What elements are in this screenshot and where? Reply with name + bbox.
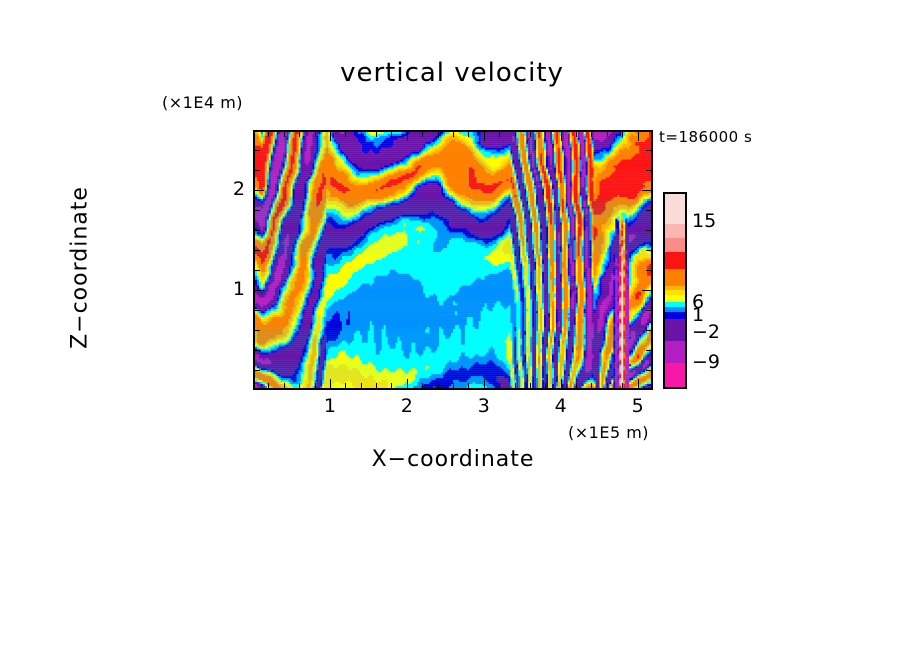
xaxis-tick-mark [591, 383, 592, 388]
xaxis-tick-mark [622, 383, 623, 388]
yaxis-tick-mark [255, 190, 264, 191]
colorbar-band [665, 269, 685, 286]
xaxis-tick-mark [499, 383, 500, 388]
xaxis-tick-mark [376, 383, 377, 388]
yaxis-tick-mark [646, 250, 651, 251]
xaxis-tick-mark [391, 383, 392, 388]
xaxis-tick-mark [422, 383, 423, 388]
colorbar-tick-label: −9 [692, 351, 720, 373]
yaxis-tick-mark [646, 270, 651, 271]
xaxis-tick-mark [407, 132, 408, 141]
yaxis-tick-mark [255, 290, 264, 291]
xaxis-tick-mark [268, 132, 269, 137]
yaxis-tick-mark [255, 230, 260, 231]
yaxis-tick-mark [642, 190, 651, 191]
xaxis-tick-mark [561, 379, 562, 388]
xaxis-tick-mark [638, 132, 639, 141]
xaxis-tick-mark [622, 132, 623, 137]
xaxis-tick-mark [484, 132, 485, 141]
colorbar-tick-label: −2 [692, 321, 720, 343]
time-annotation: t=186000 s [659, 128, 752, 146]
plot-area [253, 130, 653, 390]
yaxis-tick-mark [646, 350, 651, 351]
xaxis-tick-mark [422, 132, 423, 137]
xaxis-tick-mark [345, 383, 346, 388]
xaxis-tick-mark [515, 383, 516, 388]
xaxis-tick-mark [376, 132, 377, 137]
xaxis-tick-mark [438, 132, 439, 137]
yaxis-tick-mark [646, 310, 651, 311]
yaxis-tick-label: 2 [215, 178, 245, 200]
xaxis-tick-mark [530, 383, 531, 388]
xaxis-tick-mark [299, 132, 300, 137]
colorbar-band [665, 194, 685, 224]
contour-field [255, 132, 651, 388]
colorbar-band [665, 238, 685, 252]
colorbar-tick-label: 15 [692, 210, 716, 232]
colorbar-band [665, 319, 685, 341]
yaxis-tick-mark [255, 350, 260, 351]
xaxis-tick-mark [545, 383, 546, 388]
xaxis-tick-label: 4 [546, 395, 576, 417]
colorbar-band [665, 312, 685, 319]
xaxis-tick-mark [607, 132, 608, 137]
colorbar-band [665, 363, 685, 387]
colorbar-band [665, 252, 685, 269]
yaxis-tick-mark [255, 310, 260, 311]
xaxis-tick-mark [268, 383, 269, 388]
yaxis-tick-mark [255, 170, 260, 171]
xaxis-tick-mark [361, 383, 362, 388]
xaxis-tick-mark [561, 132, 562, 141]
xaxis-tick-label: 5 [623, 395, 653, 417]
xaxis-tick-mark [284, 383, 285, 388]
xaxis-tick-mark [591, 132, 592, 137]
yaxis-tick-mark [646, 330, 651, 331]
xaxis-tick-mark [438, 383, 439, 388]
xaxis-tick-mark [284, 132, 285, 137]
xaxis-tick-mark [468, 132, 469, 137]
xaxis-tick-mark [330, 379, 331, 388]
yaxis-tick-mark [255, 270, 260, 271]
colorbar [663, 192, 687, 389]
xaxis-tick-mark [484, 379, 485, 388]
yaxis-unit-label: (×1E4 m) [162, 93, 243, 112]
yaxis-title: Z−coordinate [68, 128, 93, 408]
yaxis-tick-mark [255, 210, 260, 211]
xaxis-tick-label: 2 [392, 395, 422, 417]
xaxis-tick-label: 3 [469, 395, 499, 417]
xaxis-tick-mark [530, 132, 531, 137]
xaxis-tick-mark [576, 383, 577, 388]
colorbar-band [665, 341, 685, 363]
xaxis-tick-mark [315, 383, 316, 388]
yaxis-tick-mark [255, 150, 260, 151]
yaxis-tick-mark [255, 370, 260, 371]
yaxis-tick-mark [255, 330, 260, 331]
xaxis-tick-mark [607, 383, 608, 388]
yaxis-tick-mark [642, 290, 651, 291]
xaxis-tick-mark [315, 132, 316, 137]
xaxis-tick-mark [361, 132, 362, 137]
xaxis-tick-mark [453, 383, 454, 388]
yaxis-tick-label: 1 [215, 278, 245, 300]
xaxis-tick-mark [299, 383, 300, 388]
xaxis-tick-mark [453, 132, 454, 137]
yaxis-tick-mark [646, 170, 651, 171]
xaxis-tick-mark [545, 132, 546, 137]
xaxis-title: X−coordinate [253, 447, 653, 472]
yaxis-tick-mark [255, 250, 260, 251]
xaxis-tick-mark [391, 132, 392, 137]
colorbar-band [665, 295, 685, 302]
xaxis-tick-label: 1 [315, 395, 345, 417]
xaxis-tick-mark [468, 383, 469, 388]
xaxis-tick-mark [515, 132, 516, 137]
yaxis-tick-mark [646, 230, 651, 231]
yaxis-tick-mark [646, 210, 651, 211]
xaxis-tick-mark [407, 379, 408, 388]
yaxis-tick-mark [646, 150, 651, 151]
xaxis-tick-mark [345, 132, 346, 137]
page-title: vertical velocity [0, 58, 904, 88]
xaxis-tick-mark [576, 132, 577, 137]
colorbar-band [665, 224, 685, 238]
xaxis-tick-mark [638, 379, 639, 388]
xaxis-tick-mark [499, 132, 500, 137]
figure-canvas: vertical velocity (×1E4 m) t=186000 s (×… [0, 0, 904, 654]
xaxis-tick-mark [330, 132, 331, 141]
yaxis-tick-mark [646, 370, 651, 371]
xaxis-unit-label: (×1E5 m) [568, 423, 649, 442]
